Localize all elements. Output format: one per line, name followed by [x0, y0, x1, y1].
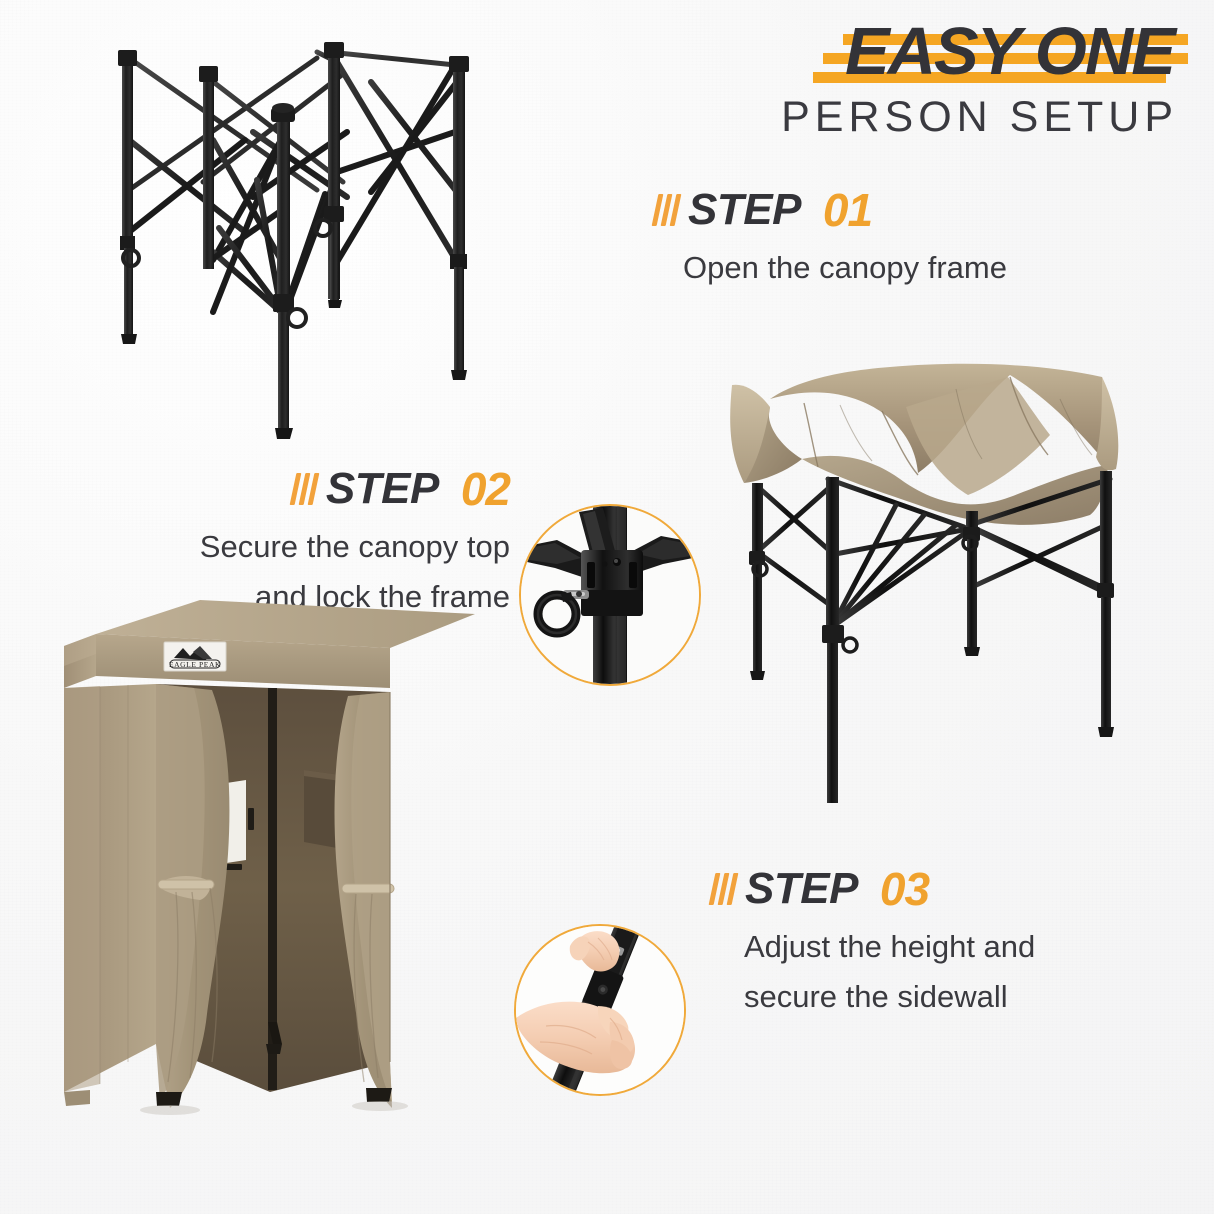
- step-03-description-line2: secure the sidewall: [744, 978, 1035, 1016]
- step-bars-icon: [652, 194, 682, 226]
- photo-canopy-on-frame: [710, 355, 1150, 805]
- step-03-number: 03: [880, 862, 929, 916]
- step-bars-icon: [709, 873, 739, 905]
- step-03-heading: STEP 03: [712, 862, 1035, 916]
- photo-cabana: EAGLE PEAK: [60, 592, 490, 1192]
- infographic-canvas: EASY ONE PERSON SETUP STEP 01 Open the c…: [0, 0, 1214, 1214]
- step-01-word: STEP: [688, 185, 801, 235]
- step-bars-icon: [290, 473, 320, 505]
- brand-label: EAGLE PEAK: [164, 642, 226, 671]
- step-02-description-line1: Secure the canopy top: [80, 528, 510, 566]
- step-01-description: Open the canopy frame: [683, 249, 1007, 287]
- step-01-heading: STEP 01: [655, 183, 1007, 237]
- step-01-number: 01: [823, 183, 872, 237]
- photo-canopy-frame: [85, 22, 500, 452]
- headline-block: EASY ONE PERSON SETUP: [778, 18, 1178, 140]
- step-02-heading: STEP 02: [80, 462, 510, 516]
- step-03-word: STEP: [745, 864, 858, 914]
- step-02-word: STEP: [326, 464, 439, 514]
- step-03-description-line1: Adjust the height and: [744, 928, 1035, 966]
- headline-subtitle: PERSON SETUP: [778, 95, 1178, 140]
- inset-truss-hub-lock: [519, 504, 701, 686]
- step-01-block: STEP 01 Open the canopy frame: [655, 183, 1007, 287]
- headline-main-wrap: EASY ONE: [841, 18, 1178, 85]
- headline-title: EASY ONE: [845, 18, 1174, 85]
- inset-leg-height-adjust: [514, 924, 686, 1096]
- svg-text:EAGLE PEAK: EAGLE PEAK: [169, 660, 221, 669]
- step-03-block: STEP 03 Adjust the height and secure the…: [712, 862, 1035, 1016]
- step-02-number: 02: [461, 462, 510, 516]
